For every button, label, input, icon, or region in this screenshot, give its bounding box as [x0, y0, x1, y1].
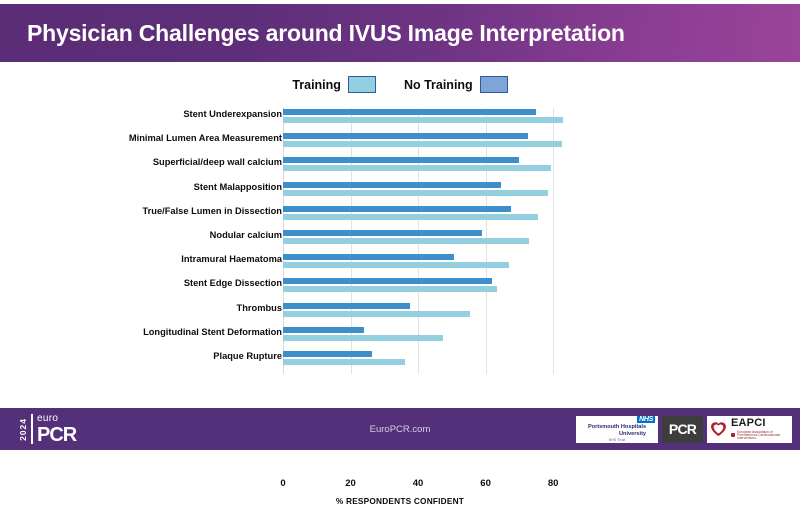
- legend-label-training: Training: [292, 78, 341, 92]
- bar-training: [283, 286, 497, 292]
- eapci-subtitle-row: European Association of Percutaneous Car…: [731, 431, 789, 441]
- category-label: Stent Malapposition: [194, 182, 282, 192]
- bar-no-training: [283, 303, 410, 309]
- x-axis: 020406080: [283, 478, 570, 492]
- nhs-trust-line2: University: [619, 431, 646, 437]
- chart-row: Longitudinal Stent Deformation] p=0.003: [283, 326, 570, 350]
- bar-no-training: [283, 254, 454, 260]
- bar-no-training: [283, 133, 528, 139]
- slide-footer: 2024 euro PCR EuroPCR.com NHS Portsmouth…: [0, 408, 800, 450]
- chart-row: Stent Edge Dissection] p=0.071: [283, 277, 570, 301]
- chart-row: Intramural Haematoma] p=0.013: [283, 253, 570, 277]
- category-label: Intramural Haematoma: [181, 254, 282, 264]
- eapci-dot-icon: [731, 433, 735, 437]
- bar-training: [283, 262, 509, 268]
- bar-training: [283, 190, 548, 196]
- bar-rows: Stent Underexpansion] p=0.011Minimal Lum…: [283, 108, 570, 374]
- chart-row: Stent Underexpansion] p=0.011: [283, 108, 570, 132]
- x-tick-label: 0: [280, 478, 285, 489]
- slide-header: Physician Challenges around IVUS Image I…: [0, 4, 800, 62]
- x-tick-label: 80: [548, 478, 559, 489]
- nhs-trust-name: Portsmouth Hospitals University: [588, 424, 646, 437]
- bar-training: [283, 311, 470, 317]
- bar-no-training: [283, 109, 536, 115]
- eapci-subtitle: European Association of Percutaneous Car…: [737, 431, 789, 441]
- legend-swatch-training: [348, 76, 376, 93]
- category-label: Superficial/deep wall calcium: [153, 157, 282, 167]
- heart-icon: [710, 421, 727, 437]
- chart-row: Stent Malapposition] p=0.003: [283, 181, 570, 205]
- legend-item-no-training: No Training: [404, 76, 508, 93]
- chart-row: True/False Lumen in Dissection] p=0.001: [283, 205, 570, 229]
- plot-area: Stent Underexpansion] p=0.011Minimal Lum…: [283, 108, 570, 374]
- bar-training: [283, 141, 562, 147]
- bar-training: [283, 359, 405, 365]
- chart-row: Thrombus] p=0.010: [283, 302, 570, 326]
- legend-swatch-no-training: [480, 76, 508, 93]
- bar-training: [283, 165, 551, 171]
- chart-legend: Training No Training: [0, 76, 800, 93]
- nhs-trust-sub: NHS Trust: [609, 438, 626, 442]
- bar-chart: Stent Underexpansion] p=0.011Minimal Lum…: [0, 104, 800, 404]
- chart-row: Minimal Lumen Area Measurement] p=0.019: [283, 132, 570, 156]
- category-label: Thrombus: [237, 303, 282, 313]
- bar-no-training: [283, 157, 519, 163]
- legend-item-training: Training: [292, 76, 376, 93]
- category-label: Plaque Rupture: [213, 351, 282, 361]
- pcr-logo: PCR: [662, 416, 703, 443]
- nhs-badge: NHS: [637, 416, 655, 423]
- chart-row: Superficial/deep wall calcium] p=0.002: [283, 156, 570, 180]
- category-label: Longitudinal Stent Deformation: [143, 327, 282, 337]
- legend-label-no-training: No Training: [404, 78, 473, 92]
- x-tick-label: 20: [345, 478, 356, 489]
- chart-row: Nodular calcium] p=0.029: [283, 229, 570, 253]
- bar-training: [283, 117, 563, 123]
- eapci-logo: EAPCI European Association of Percutaneo…: [707, 416, 792, 443]
- category-label: Stent Underexpansion: [183, 109, 282, 119]
- bar-no-training: [283, 206, 511, 212]
- eapci-name: EAPCI: [731, 418, 789, 429]
- category-label: True/False Lumen in Dissection: [143, 206, 283, 216]
- bar-no-training: [283, 278, 492, 284]
- chart-row: Plaque Rupture] p=0.052: [283, 350, 570, 374]
- partner-logos: NHS Portsmouth Hospitals University NHS …: [576, 416, 792, 443]
- x-axis-title: % RESPONDENTS CONFIDENT: [0, 496, 800, 506]
- nhs-trust-line1: Portsmouth Hospitals: [588, 424, 646, 430]
- bar-no-training: [283, 230, 482, 236]
- category-label: Minimal Lumen Area Measurement: [129, 133, 282, 143]
- logo-euro-text: euro: [37, 414, 76, 424]
- bar-training: [283, 238, 529, 244]
- category-label: Nodular calcium: [210, 230, 282, 240]
- bar-no-training: [283, 351, 372, 357]
- x-tick-label: 40: [413, 478, 424, 489]
- x-tick-label: 60: [480, 478, 491, 489]
- bar-training: [283, 214, 538, 220]
- category-label: Stent Edge Dissection: [184, 278, 282, 288]
- bar-training: [283, 335, 443, 341]
- eapci-text-block: EAPCI European Association of Percutaneo…: [731, 418, 789, 441]
- bar-no-training: [283, 327, 364, 333]
- nhs-portsmouth-logo: NHS Portsmouth Hospitals University NHS …: [576, 416, 658, 443]
- bar-no-training: [283, 182, 501, 188]
- page-title: Physician Challenges around IVUS Image I…: [0, 20, 625, 47]
